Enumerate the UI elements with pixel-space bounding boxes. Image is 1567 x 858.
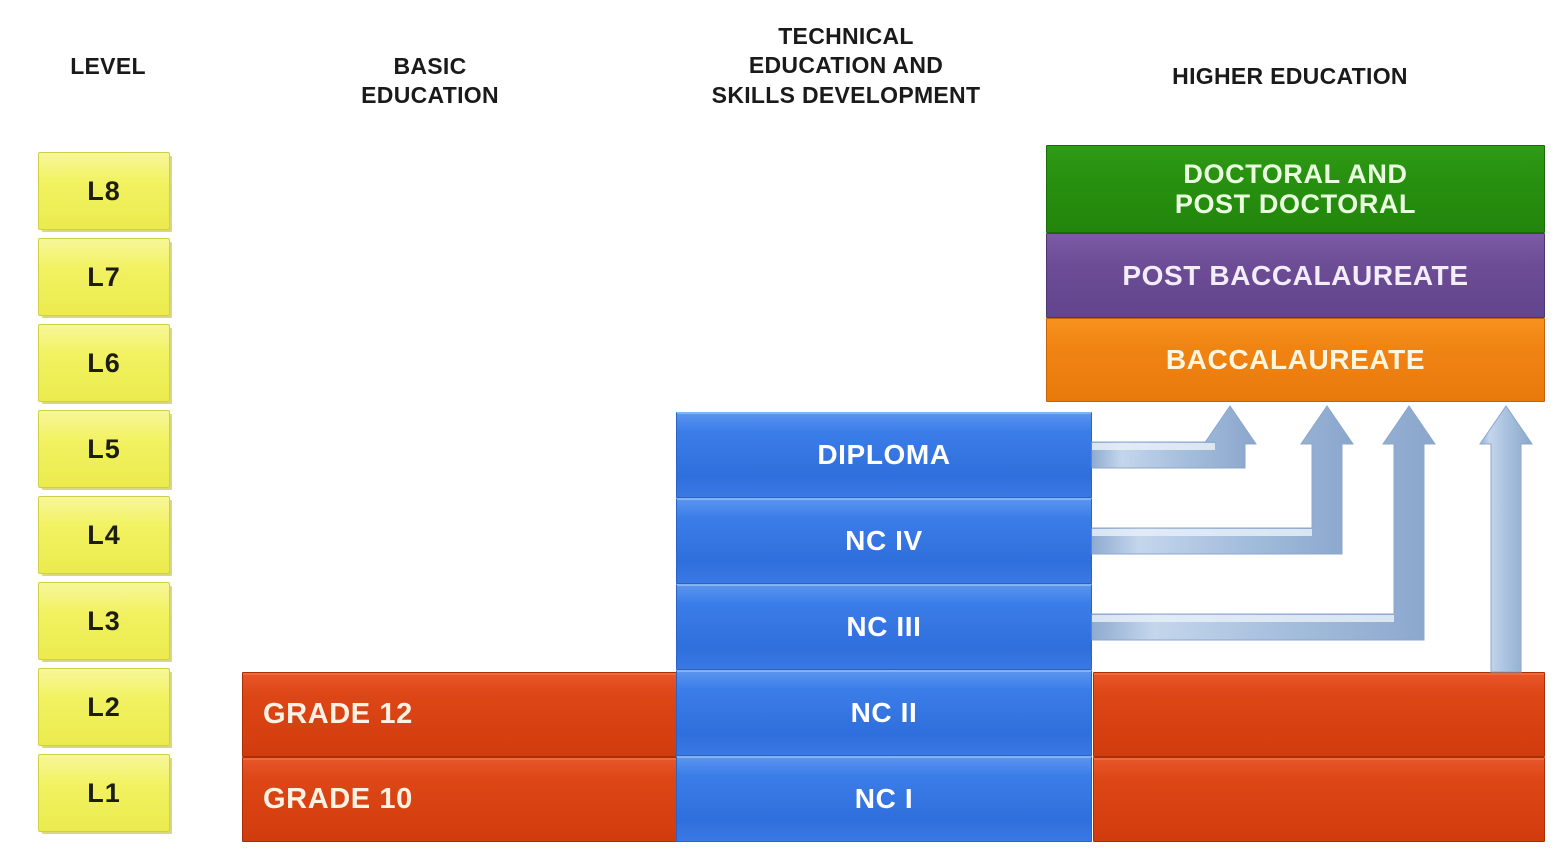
technical-education-block-nc-ii: NC II [676,670,1092,756]
higher-education-block-doctoral-and-post-doctoral: DOCTORAL AND POST DOCTORAL [1046,145,1545,233]
level-box-l6: L6 [38,324,170,402]
level-label: L1 [87,778,121,809]
level-box-l1: L1 [38,754,170,832]
block-label: NC I [677,783,1091,814]
level-label: L5 [87,434,121,465]
higher-education-block-base-l2 [1093,672,1545,757]
level-box-l7: L7 [38,238,170,316]
column-header-higher-education: HIGHER EDUCATION [1090,62,1490,91]
column-header-basic-education: BASIC EDUCATION [300,52,560,111]
technical-education-block-nc-iii: NC III [676,584,1092,670]
level-box-l5: L5 [38,410,170,488]
level-box-l4: L4 [38,496,170,574]
level-label: L2 [87,692,121,723]
level-box-l3: L3 [38,582,170,660]
block-label: POST BACCALAUREATE [1047,260,1544,291]
technical-education-block-nc-iv: NC IV [676,498,1092,584]
block-label: BACCALAUREATE [1047,344,1544,375]
arrow-grade12-to-higher-education [1480,406,1532,672]
level-box-l8: L8 [38,152,170,230]
higher-education-block-baccalaureate: BACCALAUREATE [1046,318,1545,402]
block-label: NC III [677,611,1091,642]
level-label: L7 [87,262,121,293]
arrow-nc4-to-higher-education [1092,406,1353,554]
level-label: L3 [87,606,121,637]
block-label: GRADE 10 [243,783,683,815]
qualifications-framework-diagram: LEVELBASIC EDUCATIONTECHNICAL EDUCATION … [0,0,1567,858]
block-label: DIPLOMA [677,439,1091,470]
level-label: L4 [87,520,121,551]
block-label: NC II [677,697,1091,728]
higher-education-block-post-baccalaureate: POST BACCALAUREATE [1046,233,1545,318]
arrow-nc3-to-higher-education [1092,406,1435,640]
level-box-l2: L2 [38,668,170,746]
higher-education-block-base-l1 [1093,757,1545,842]
block-label: NC IV [677,525,1091,556]
level-label: L6 [87,348,121,379]
block-label: DOCTORAL AND POST DOCTORAL [1047,159,1544,219]
arrow-diploma-to-higher-education [1092,406,1256,468]
technical-education-block-diploma: DIPLOMA [676,412,1092,498]
level-label: L8 [87,176,121,207]
basic-education-block-grade-10: GRADE 10 [242,757,684,842]
technical-education-block-nc-i: NC I [676,756,1092,842]
column-header-level: LEVEL [28,52,188,81]
basic-education-block-grade-12: GRADE 12 [242,672,684,757]
column-header-tesd: TECHNICAL EDUCATION AND SKILLS DEVELOPME… [612,22,1080,110]
block-label: GRADE 12 [243,698,683,730]
